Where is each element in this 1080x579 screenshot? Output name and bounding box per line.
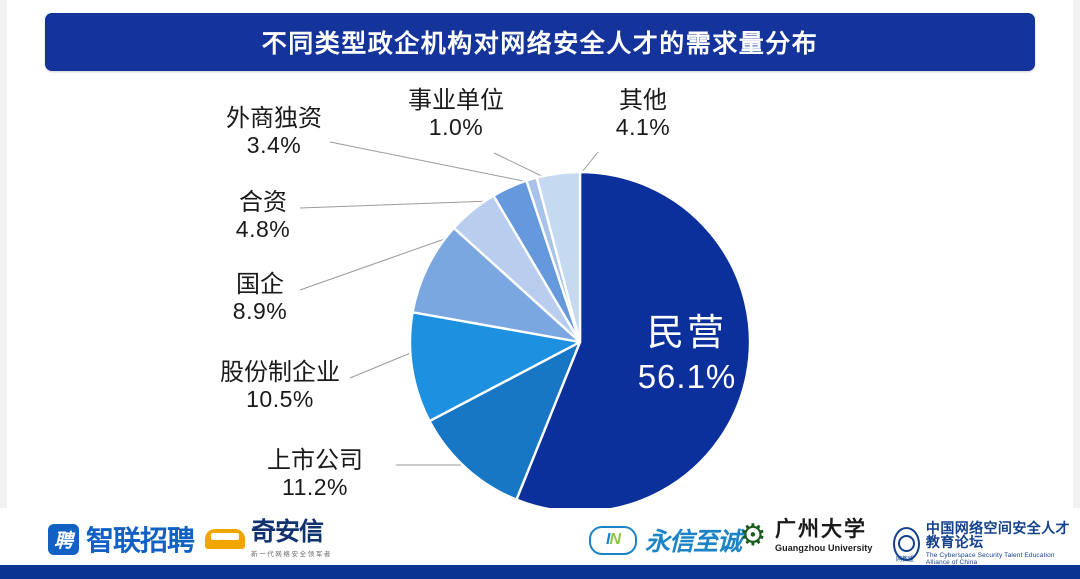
alliance-tag: 网教盟 — [896, 554, 914, 563]
pie-svg: 民营 56.1%上市公司 11.2%股份制企业 10.5%国企 8.9%合资 4… — [0, 80, 1080, 510]
yongxin-in-icon: IN — [589, 526, 637, 555]
logo-guangzhou-university: ⚙ 广州大学 Guangzhou University — [736, 519, 873, 553]
gzu-label-cn: 广州大学 — [775, 519, 873, 540]
page-title: 不同类型政企机构对网络安全人才的需求量分布 — [262, 24, 819, 60]
yongxin-label: 永信至诚 — [645, 522, 741, 558]
label-waishang-duzi: 外商独资 3.4% — [204, 106, 344, 159]
logo-cyberspace-alliance: 网教盟 中国网络空间安全人才教育论坛 The Cyberspace Securi… — [893, 521, 1080, 566]
slide-canvas: 不同类型政企机构对网络安全人才的需求量分布 民营 56.1%上市公司 11.2%… — [0, 0, 1080, 579]
pie-chart: 民营 56.1%上市公司 11.2%股份制企业 10.5%国企 8.9%合资 4… — [0, 80, 1080, 510]
bottom-accent-bar — [0, 565, 1080, 579]
zhilian-label: 智联招聘 — [86, 519, 194, 559]
footer-logos: 聘 智联招聘 奇安信 新一代网络安全领军者 IN 永信至诚 ⚙ 广州大学 Gua… — [0, 508, 1080, 565]
label-gufenzhi-qiye: 股份制企业 10.5% — [196, 360, 364, 413]
title-banner: 不同类型政企机构对网络安全人才的需求量分布 — [45, 13, 1035, 71]
label-shiye-danwei: 事业单位 1.0% — [386, 88, 526, 141]
label-hezi: 合资 4.8% — [198, 190, 328, 243]
alliance-label-en: The Cyberspace Security Talent Education… — [926, 552, 1080, 566]
qianxin-mark-icon — [205, 529, 245, 549]
qianxin-tagline: 新一代网络安全领军者 — [251, 548, 332, 558]
zhilian-badge-icon: 聘 — [48, 524, 79, 555]
gzu-label-en: Guangzhou University — [775, 543, 873, 553]
qianxin-label: 奇安信 — [251, 520, 323, 545]
alliance-label-cn: 中国网络空间安全人才教育论坛 — [926, 521, 1080, 549]
label-qita: 其他 4.1% — [588, 88, 698, 141]
label-guoqi: 国企 8.9% — [196, 272, 324, 325]
label-minying: 民营 56.1% — [592, 312, 782, 395]
gzu-emblem-icon: ⚙ — [736, 519, 770, 553]
logo-zhilian-zhaopin: 聘 智联招聘 — [48, 519, 194, 559]
label-shangshi-gongsi: 上市公司 11.2% — [240, 448, 390, 501]
logo-yongxin-zhicheng: IN 永信至诚 — [589, 522, 741, 558]
leader-line-waishang — [330, 142, 548, 186]
logo-qianxin: 奇安信 新一代网络安全领军者 — [205, 520, 332, 558]
